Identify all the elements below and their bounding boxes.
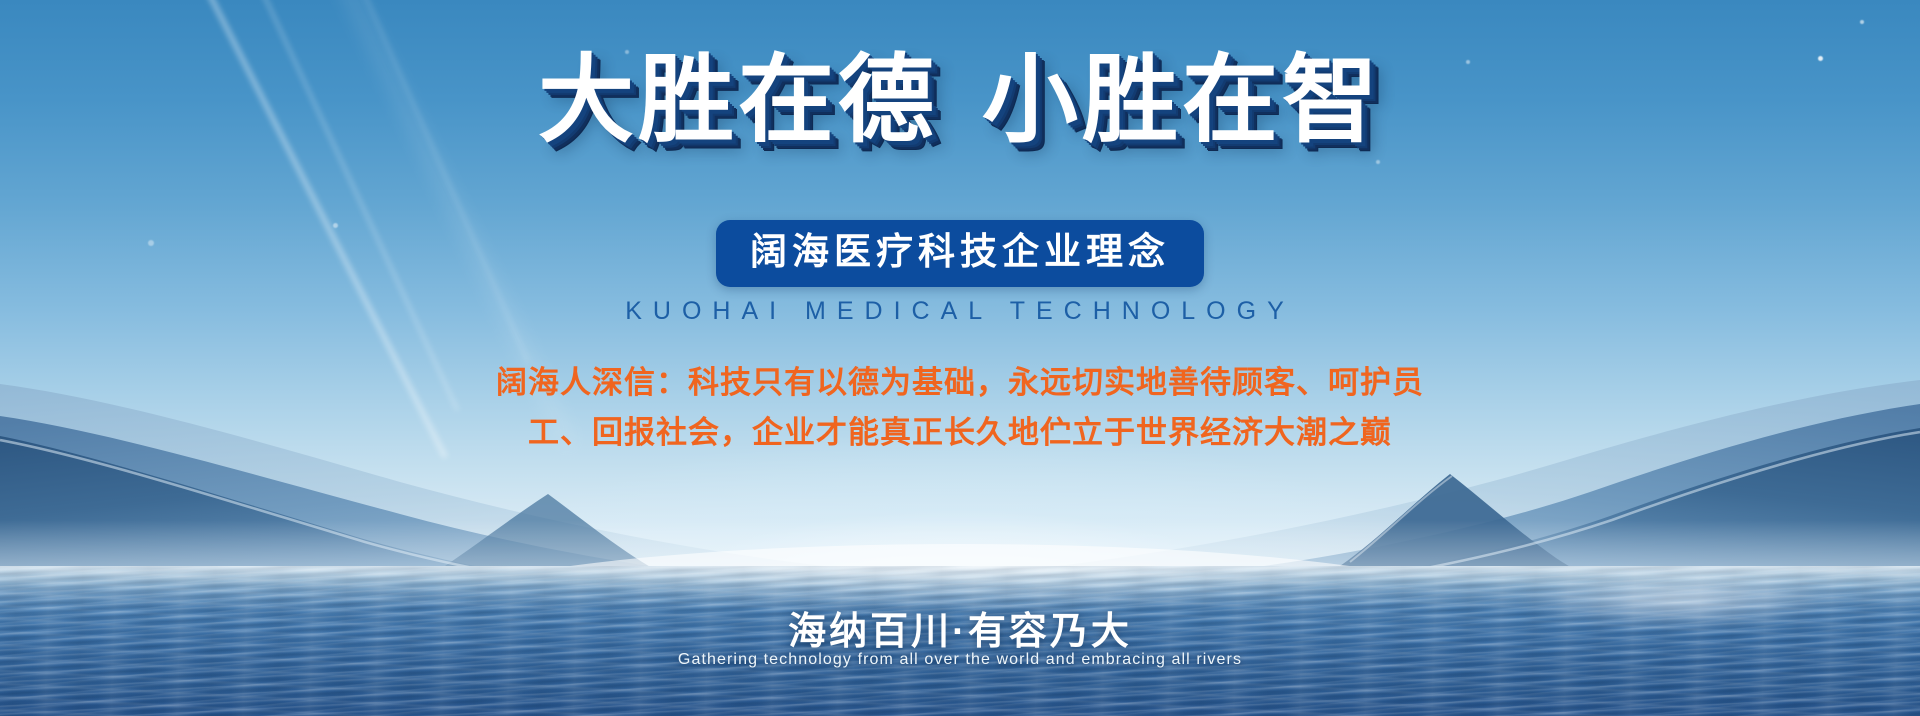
manifesto-line-1: 阔海人深信：科技只有以德为基础，永远切实地善待顾客、呵护员	[445, 358, 1475, 408]
corporate-philosophy-banner: 大胜在德小胜在智 阔海医疗科技企业理念 KUOHAI MEDICAL TECHN…	[0, 0, 1920, 716]
headline-part-2: 小胜在智	[982, 47, 1382, 154]
headline-part-1: 大胜在德	[538, 47, 938, 154]
motto-chinese: 海纳百川·有容乃大	[0, 600, 1920, 655]
manifesto-line-2: 工、回报社会，企业才能真正长久地伫立于世界经济大潮之巅	[445, 408, 1475, 458]
english-subtitle: KUOHAI MEDICAL TECHNOLOGY	[0, 297, 1920, 326]
motto-english: Gathering technology from all over the w…	[0, 651, 1920, 669]
philosophy-badge-wrapper: 阔海医疗科技企业理念	[0, 220, 1920, 287]
philosophy-badge: 阔海医疗科技企业理念	[716, 220, 1204, 287]
banner-content: 大胜在德小胜在智 阔海医疗科技企业理念 KUOHAI MEDICAL TECHN…	[0, 0, 1920, 716]
manifesto-text: 阔海人深信：科技只有以德为基础，永远切实地善待顾客、呵护员 工、回报社会，企业才…	[445, 358, 1475, 458]
headline: 大胜在德小胜在智	[0, 52, 1920, 150]
